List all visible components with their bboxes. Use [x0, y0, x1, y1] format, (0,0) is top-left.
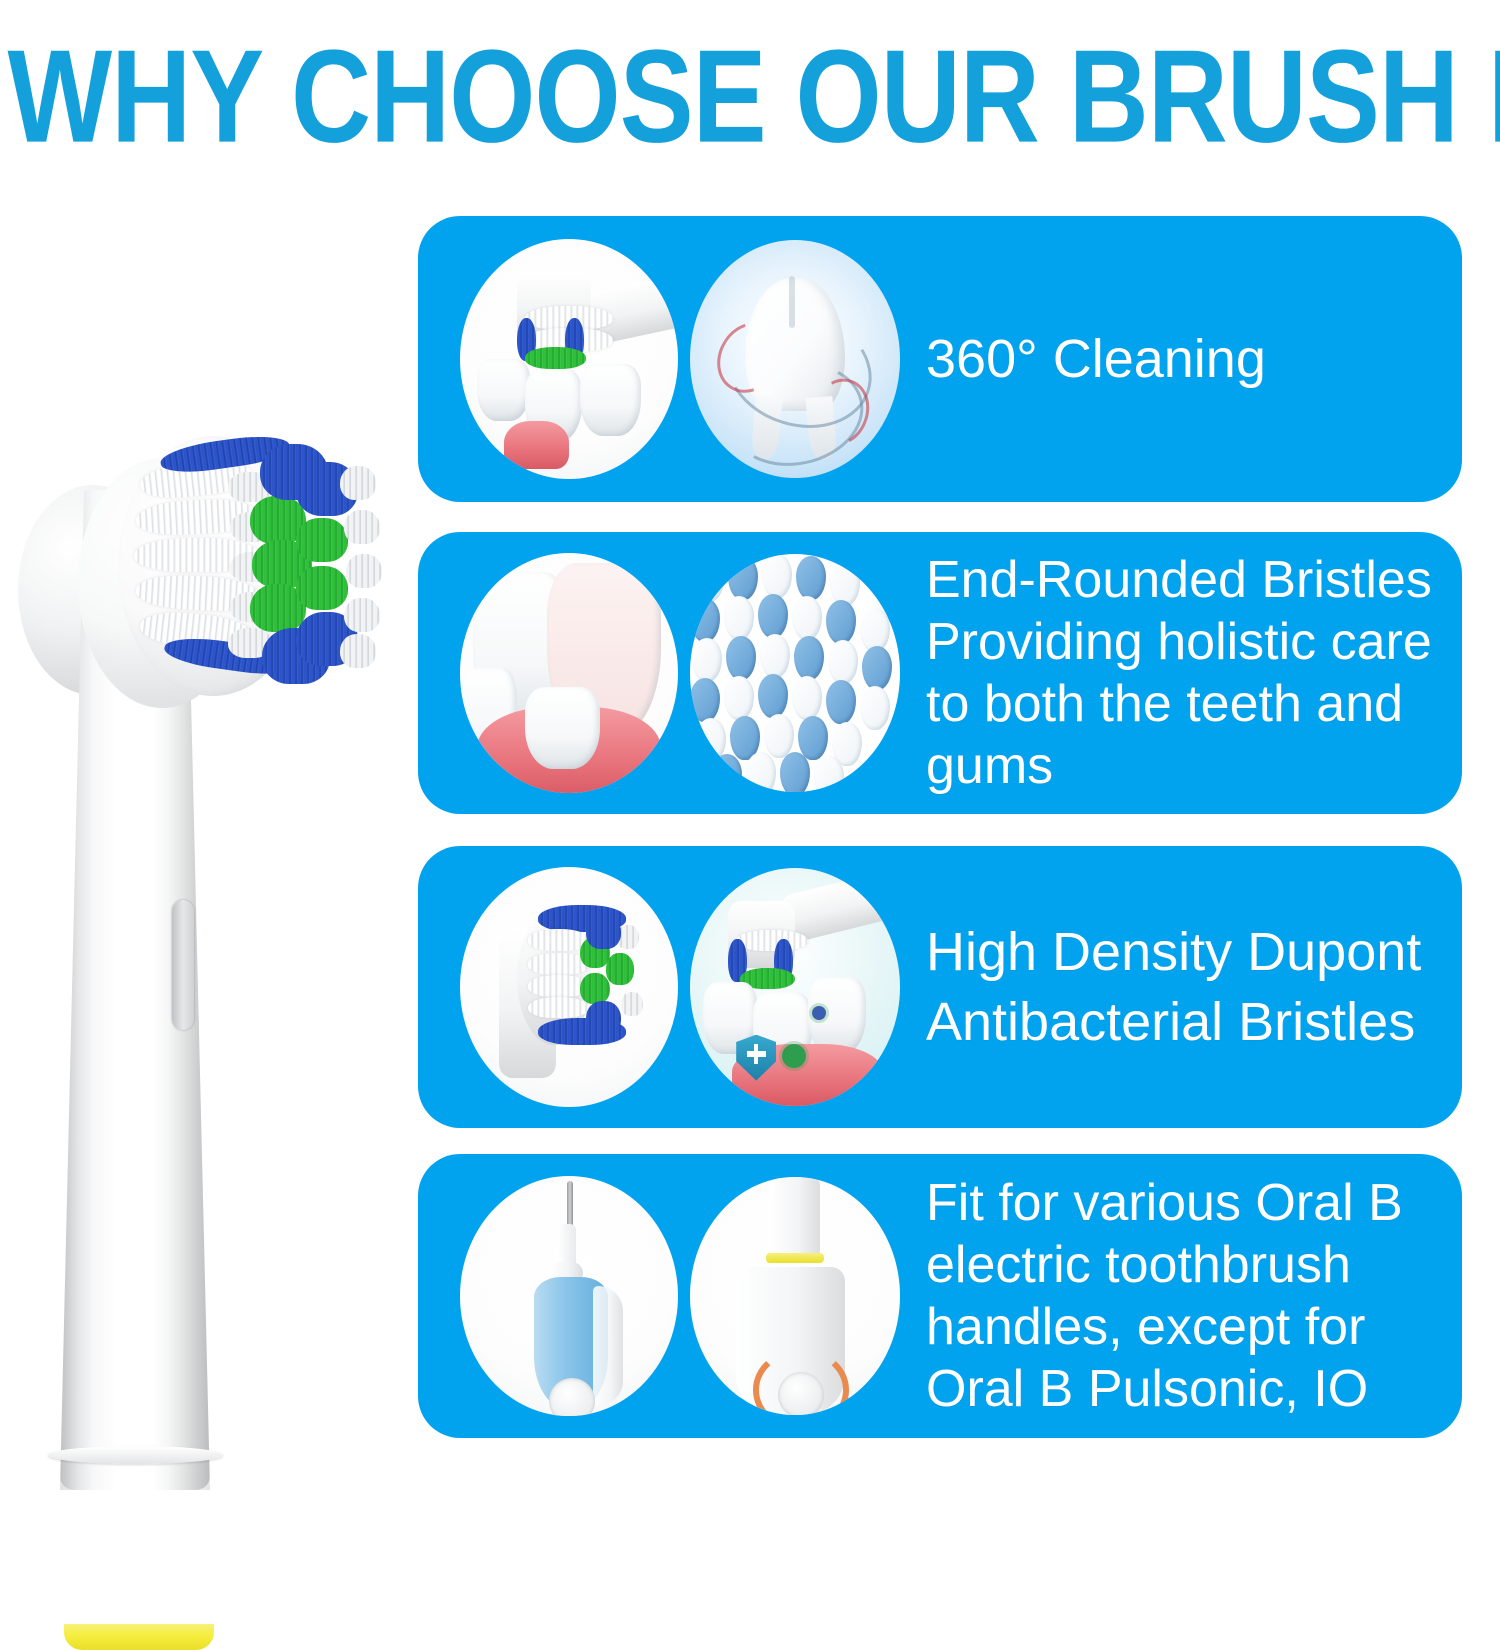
bristle-tip	[724, 676, 754, 720]
feature-card-text: End-Rounded Bristles Providing holistic …	[926, 532, 1456, 814]
bristle-tip	[692, 638, 722, 682]
bristle-tip	[798, 716, 828, 760]
brush-head-collar-ring	[48, 1446, 223, 1464]
bristle-tuft-green	[606, 953, 634, 984]
bristle-tip	[690, 598, 720, 642]
feature-card-media	[438, 216, 918, 502]
feature-card-end-rounded-bristles[interactable]: End-Rounded Bristles Providing holistic …	[418, 532, 1462, 814]
bristle-tuft-silver	[344, 598, 380, 632]
brush-head-on-teeth-photo	[460, 239, 678, 479]
bristle-tip	[760, 634, 790, 678]
handle-side-highlight	[593, 1286, 624, 1406]
bristle-tuft-green	[296, 566, 348, 610]
blue-toothbrush-handle-photo	[460, 1176, 678, 1416]
gum-tissue-shape	[504, 421, 569, 469]
feature-card-text: 360° Cleaning	[926, 216, 1456, 502]
rounded-bristle-tips-macro	[690, 554, 900, 792]
bristle-tip	[724, 596, 754, 640]
bristle-tip	[780, 752, 810, 792]
feature-card-media	[438, 532, 918, 814]
bristle-tip	[764, 714, 794, 758]
brush-head-attached-to-handle-photo	[690, 1177, 900, 1415]
bristle-tip	[860, 686, 890, 730]
brush-head-front-view-photo	[460, 867, 678, 1107]
page-title: WHY CHOOSE OUR BRUSH HEAD	[8, 26, 1493, 168]
bristle-tip	[792, 676, 822, 720]
brush-head-neck	[770, 1177, 820, 1258]
bristle-tuft-silver	[621, 992, 643, 1016]
bristle-tuft-green	[525, 347, 586, 369]
bristle-tuft-silver	[344, 510, 380, 544]
tooth-360-rotation-illustration	[690, 240, 900, 478]
feature-card-media	[438, 846, 918, 1128]
bristle-tip	[862, 646, 892, 690]
bristle-tuft-white	[528, 997, 589, 1019]
tooth-shape	[580, 364, 641, 436]
feature-card-compatibility[interactable]: Fit for various Oral B electric toothbru…	[418, 1154, 1462, 1438]
brush-head-shaft-slot	[172, 900, 194, 1030]
bristle-tip	[712, 754, 742, 792]
feature-text-compatibility: Fit for various Oral B electric toothbru…	[926, 1172, 1456, 1420]
bristle-tip	[792, 596, 822, 640]
bristle-tip-grid	[690, 554, 900, 792]
bristle-tuft-white	[736, 930, 807, 951]
tooth-shape	[477, 359, 529, 421]
brush-head-yellow-identification-ring	[64, 1624, 214, 1650]
bristle-tuft-silver	[346, 554, 382, 588]
antibacterial-brushing-illustration	[690, 868, 900, 1106]
bristle-tuft-blue	[586, 1001, 621, 1035]
bristle-tip	[726, 636, 756, 680]
feature-text-360-cleaning: 360° Cleaning	[926, 327, 1266, 391]
feature-card-high-density-dupont[interactable]: High Density Dupont Antibacterial Bristl…	[418, 846, 1462, 1128]
power-button-icon[interactable]	[778, 1372, 824, 1415]
bristle-tuft-green	[296, 518, 348, 562]
bristle-tip	[830, 562, 860, 606]
bristle-tip	[828, 640, 858, 684]
bristle-tip	[758, 594, 788, 638]
feature-text-high-density-dupont: High Density Dupont Antibacterial Bristl…	[926, 917, 1456, 1057]
feature-card-text: High Density Dupont Antibacterial Bristl…	[926, 846, 1456, 1128]
feature-text-end-rounded-bristles: End-Rounded Bristles Providing holistic …	[926, 549, 1456, 797]
bristle-tip	[794, 636, 824, 680]
yellow-identification-ring-icon	[766, 1253, 825, 1263]
bristle-tuft-silver	[340, 466, 376, 500]
bristle-tip	[694, 558, 724, 602]
bristle-tip	[746, 752, 776, 792]
germ-icon	[812, 1006, 826, 1020]
bristle-tip	[690, 678, 720, 722]
feature-card-media	[438, 1154, 918, 1438]
product-hero-image	[0, 200, 400, 1500]
bristle-tuft-blue	[586, 915, 621, 949]
bristle-tip	[814, 756, 844, 792]
feature-card-text: Fit for various Oral B electric toothbru…	[926, 1154, 1456, 1438]
tooth-shape	[525, 687, 599, 769]
bristle-tip	[826, 680, 856, 724]
bristle-tip	[826, 600, 856, 644]
bristle-tip	[758, 674, 788, 718]
tooth-and-gum-closeup-photo	[460, 553, 678, 793]
bristle-tip	[796, 556, 826, 600]
bristle-tuft-silver	[340, 634, 376, 668]
feature-card-360-cleaning[interactable]: 360° Cleaning	[418, 216, 1462, 502]
bristle-tip	[728, 556, 758, 600]
bristle-tuft-green	[580, 973, 611, 1004]
bristle-tip	[762, 554, 792, 598]
